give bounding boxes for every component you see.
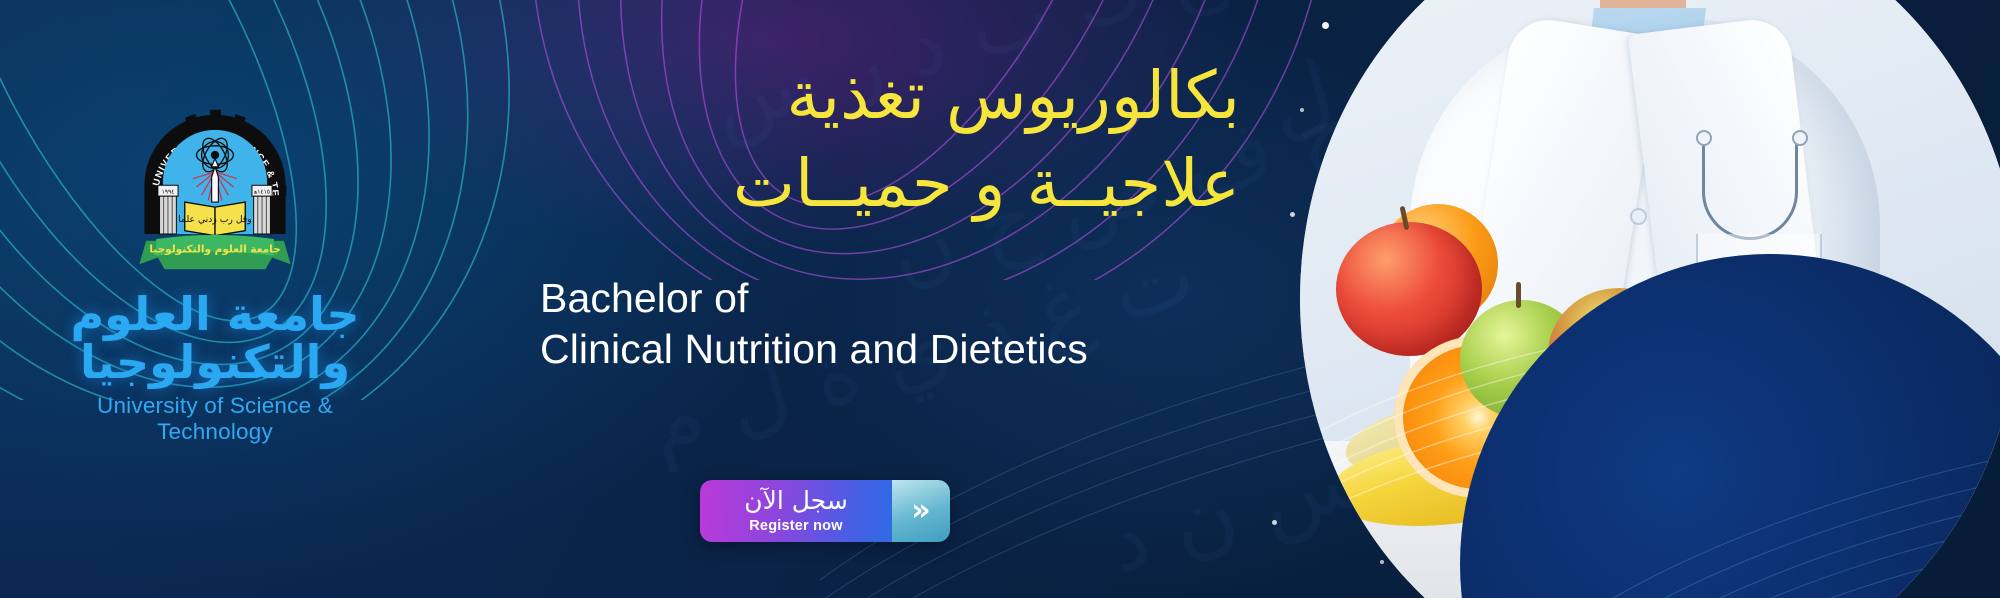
university-logo-block[interactable]: UNIVERSITY OF SCIENCE & TECHNOLOGY [40, 108, 390, 445]
stethoscope-icon [1702, 136, 1798, 240]
dietitian-photo-content [1300, 0, 2000, 598]
program-copy: بكالوريوس تغذية علاجيــة و حميــات Bache… [540, 52, 1240, 375]
register-now-label-english: Register now [749, 518, 842, 534]
stethoscope-earpiece [1696, 130, 1712, 146]
register-now-label-arabic: سجل الآن [744, 488, 848, 513]
headline-english: Bachelor of Clinical Nutrition and Diete… [540, 273, 1240, 375]
coat-button [1632, 210, 1645, 223]
headline-english-line2: Clinical Nutrition and Dietetics [540, 324, 1240, 375]
register-now-button[interactable]: سجل الآن Register now » [700, 480, 950, 542]
sparkle-dot [1272, 520, 1277, 525]
stethoscope-earpiece [1792, 130, 1808, 146]
wave-line-field [1540, 304, 2000, 598]
wordmark-english: University of Science & Technology [40, 393, 390, 445]
headline-arabic-line2: علاجيــة و حميــات [540, 140, 1240, 228]
crest-ribbon-text: جامعة العلوم والتكنولوجيا [149, 243, 280, 255]
university-crest-icon: UNIVERSITY OF SCIENCE & TECHNOLOGY [130, 108, 300, 276]
crest-pillar-left-year: ١٩٩٤ [162, 190, 175, 196]
admissions-banner: ﻡ ﻝ ﻉ ﻙ ﺏ ﺩ ﺭ ﺱ ﻩ ﻭ ﺝ ﻑ ﺹ ﺡ ﻥ ﺕ ﻍ ﺫ ﻱ ﺓ … [0, 0, 2000, 598]
register-now-button-body[interactable]: سجل الآن Register now [700, 480, 892, 542]
sparkle-dot [1290, 212, 1295, 217]
headline-english-line1: Bachelor of [540, 273, 1240, 324]
crest-pillar-right-year: ١٤١٥ﻫ [253, 190, 270, 196]
wordmark-arabic: جامعة العلوم والتكنولوجيا [40, 290, 390, 387]
double-chevron-right-icon[interactable]: » [892, 480, 950, 542]
headline-arabic: بكالوريوس تغذية علاجيــة و حميــات [540, 52, 1240, 229]
crest-book-text: وقل رب زدني علما [178, 214, 251, 225]
dietitian-photo [1300, 0, 2000, 598]
headline-arabic-line1: بكالوريوس تغذية [540, 52, 1240, 140]
